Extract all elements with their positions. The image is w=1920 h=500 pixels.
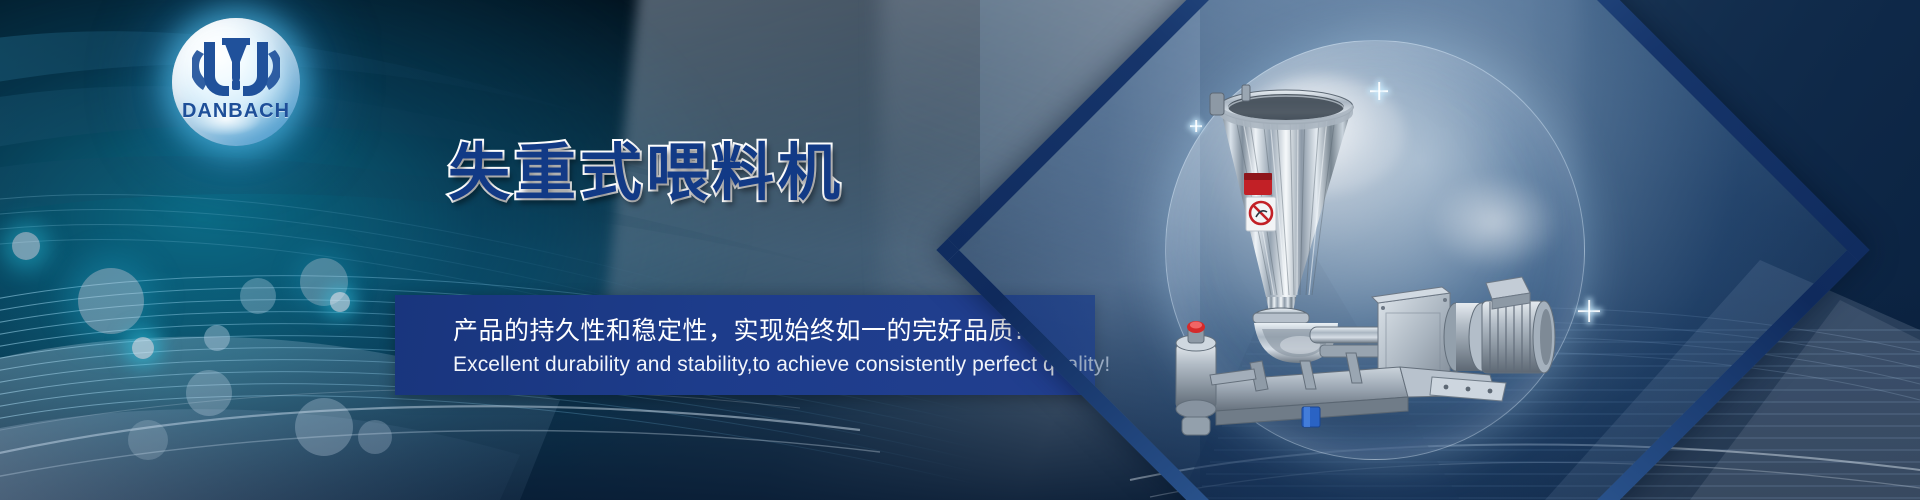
danbach-logo-icon bbox=[192, 34, 280, 106]
decorative-bubble bbox=[330, 292, 350, 312]
tagline-english: Excellent durability and stability,to ac… bbox=[453, 353, 1110, 377]
page-title: 失重式喂料机 bbox=[448, 122, 844, 212]
decorative-bubble bbox=[12, 232, 40, 260]
tagline-box: 产品的持久性和稳定性，实现始终如一的完好品质! Excellent durabi… bbox=[395, 295, 1095, 395]
product-image-loss-in-weight-feeder bbox=[1150, 45, 1580, 455]
decorative-bubble bbox=[186, 370, 232, 416]
decorative-bubble bbox=[132, 337, 154, 359]
product-banner: DANBACH 失重式喂料机 产品的持久性和稳定性，实现始终如一的完好品质! E… bbox=[0, 0, 1920, 500]
tagline-chinese: 产品的持久性和稳定性，实现始终如一的完好品质! bbox=[453, 311, 1025, 347]
decorative-bubble bbox=[204, 325, 230, 351]
decorative-bubble bbox=[358, 420, 392, 454]
decorative-bubble bbox=[78, 268, 144, 334]
decorative-bubble bbox=[128, 420, 168, 460]
decorative-bubble bbox=[240, 278, 276, 314]
brand-name: DANBACH bbox=[172, 100, 300, 123]
decorative-bubble bbox=[295, 398, 353, 456]
